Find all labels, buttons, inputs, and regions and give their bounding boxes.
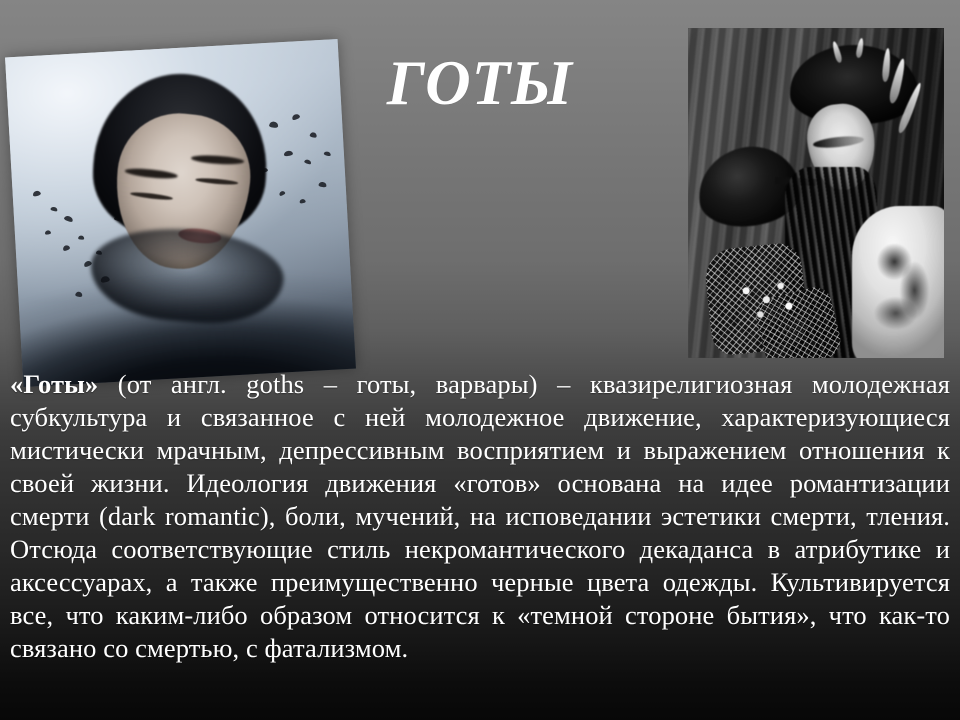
tattoo-shape [867, 236, 939, 335]
goth-woman-with-raven-photo [688, 28, 944, 358]
presentation-slide: ГОТЫ «Готы» (от англ. goths – готы, варв… [0, 0, 960, 720]
body-lead-term: «Готы» [10, 369, 98, 399]
bead-jewellery-shape [731, 268, 804, 330]
body-paragraph: «Готы» (от англ. goths – готы, варвары) … [10, 368, 950, 665]
body-paragraph-text: (от англ. goths – готы, варвары) – квази… [10, 369, 950, 663]
